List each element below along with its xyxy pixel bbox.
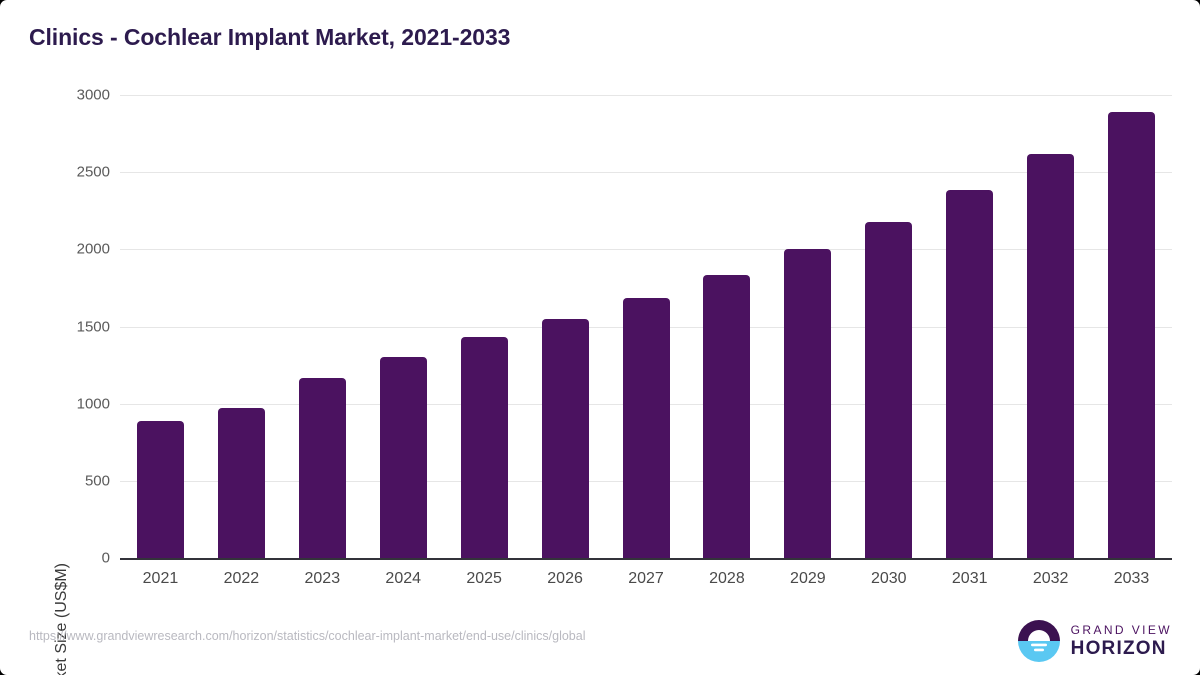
bar-2021[interactable]	[137, 421, 184, 558]
y-axis-tick-labels: 050010001500200025003000	[20, 95, 110, 558]
logo-text-top: GRAND VIEW	[1071, 624, 1172, 636]
logo-text: GRAND VIEW HORIZON	[1071, 624, 1172, 658]
bar-2030[interactable]	[865, 222, 912, 558]
x-axis-tick-label: 2027	[628, 570, 664, 588]
x-axis-tick-label: 2026	[547, 570, 583, 588]
y-axis-tick-label: 3000	[30, 87, 110, 104]
y-axis-tick-label: 2000	[30, 241, 110, 258]
x-axis-tick-label: 2033	[1114, 570, 1150, 588]
bar-2031[interactable]	[946, 190, 993, 558]
x-axis-tick-label: 2032	[1033, 570, 1069, 588]
x-axis-tick-label: 2028	[709, 570, 745, 588]
bar-2025[interactable]	[461, 337, 508, 558]
bar-2027[interactable]	[623, 298, 670, 558]
page-title: Clinics - Cochlear Implant Market, 2021-…	[29, 24, 510, 51]
source-url[interactable]: https://www.grandviewresearch.com/horizo…	[29, 629, 585, 643]
logo-text-bottom: HORIZON	[1071, 639, 1172, 658]
bar-2033[interactable]	[1108, 112, 1155, 558]
gridline	[120, 249, 1172, 250]
gridline	[120, 172, 1172, 173]
x-axis-tick-label: 2029	[790, 570, 826, 588]
bar-2023[interactable]	[299, 378, 346, 558]
x-axis-tick-label: 2022	[224, 570, 260, 588]
x-axis-tick-label: 2031	[952, 570, 988, 588]
plot-area	[120, 95, 1172, 558]
bar-2032[interactable]	[1027, 154, 1074, 558]
x-axis-tick-label: 2024	[385, 570, 421, 588]
gridline	[120, 95, 1172, 96]
y-axis-tick-label: 1000	[30, 395, 110, 412]
bar-2022[interactable]	[218, 408, 265, 558]
x-axis-tick-label: 2023	[305, 570, 341, 588]
chart-card: Clinics - Cochlear Implant Market, 2021-…	[0, 0, 1200, 675]
y-axis-tick-label: 0	[30, 550, 110, 567]
x-axis-line	[120, 558, 1172, 560]
bar-2028[interactable]	[703, 275, 750, 558]
bar-2029[interactable]	[784, 249, 831, 558]
bar-2024[interactable]	[380, 357, 427, 558]
y-axis-tick-label: 2500	[30, 164, 110, 181]
y-axis-tick-label: 500	[30, 472, 110, 489]
bar-2026[interactable]	[542, 319, 589, 558]
brand-logo[interactable]: GRAND VIEW HORIZON	[1016, 618, 1172, 664]
y-axis-tick-label: 1500	[30, 318, 110, 335]
horizon-logo-icon	[1016, 618, 1062, 664]
x-axis-tick-label: 2030	[871, 570, 907, 588]
x-axis-tick-label: 2021	[143, 570, 179, 588]
x-axis-tick-label: 2025	[466, 570, 502, 588]
